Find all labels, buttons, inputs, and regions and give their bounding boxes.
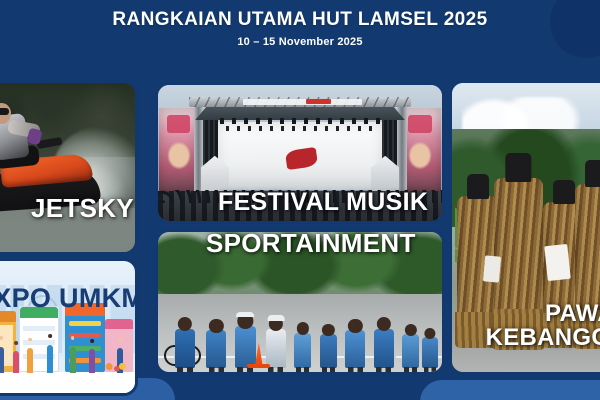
runner-figure xyxy=(235,326,256,368)
card-label-festival-musik: FESTIVAL MUSIK xyxy=(218,188,428,217)
banner-portrait xyxy=(406,142,434,172)
runner-legs xyxy=(348,367,363,372)
shopper-figure xyxy=(13,351,19,373)
sponsor-banner xyxy=(243,99,362,106)
runner-figure xyxy=(294,333,311,368)
expo-umkm-illustration xyxy=(0,261,135,393)
poster-header: RANGKAIAN UTAMA HUT LAMSEL 2025 10 – 15 … xyxy=(0,10,600,48)
event-card-grid: JETSKY xyxy=(0,78,600,400)
runner-legs xyxy=(376,367,391,372)
runner-legs xyxy=(404,367,417,372)
white-banner xyxy=(544,244,570,281)
stall-shelf xyxy=(23,326,55,331)
runner-head xyxy=(322,324,334,336)
event-card-sportainment[interactable]: SPORTAINMENT xyxy=(155,229,445,375)
card-label-sportainment: SPORTAINMENT xyxy=(206,229,416,259)
figure-head xyxy=(15,341,19,345)
card-label-jetsky: JETSKY xyxy=(31,193,134,224)
stall-awning xyxy=(105,319,134,329)
runner-figure xyxy=(374,329,394,368)
runner-head xyxy=(209,319,223,333)
shopper-figure xyxy=(27,348,33,373)
sponsor-logo-mark xyxy=(306,99,332,104)
runner-legs xyxy=(268,367,283,372)
performer-hat xyxy=(585,160,600,187)
market-stall xyxy=(19,306,59,372)
costume-performer xyxy=(494,178,543,334)
figure-head xyxy=(48,334,52,338)
event-card-jetsky[interactable]: JETSKY xyxy=(0,80,138,255)
runner-figure xyxy=(175,329,195,368)
ground xyxy=(0,372,135,393)
figure-head xyxy=(28,338,32,342)
event-date-range: 10 – 15 November 2025 xyxy=(0,36,600,48)
rider-sunglasses xyxy=(0,108,9,115)
runner-head xyxy=(424,328,435,339)
runner-figure xyxy=(422,337,438,368)
shopper-figure xyxy=(70,347,76,373)
figure-head xyxy=(91,339,95,343)
event-card-festival-musik[interactable]: FESTIVAL MUSIK xyxy=(155,82,445,224)
runner-legs xyxy=(424,367,436,372)
runner-head xyxy=(377,317,391,331)
side-banner-right xyxy=(401,108,441,192)
runner-figure xyxy=(320,334,337,368)
runner-legs xyxy=(209,367,224,372)
runner-figure xyxy=(345,330,365,368)
stall-rack xyxy=(69,321,101,326)
jetski-photo xyxy=(0,83,135,252)
runner-legs xyxy=(322,367,335,372)
figure-head xyxy=(71,336,75,340)
page-title: RANGKAIAN UTAMA HUT LAMSEL 2025 xyxy=(0,10,600,31)
runner-cap xyxy=(236,312,254,318)
banner-graphic xyxy=(408,115,432,134)
shopper-figure xyxy=(47,345,53,373)
runner-legs xyxy=(296,367,309,372)
event-card-expo-umkm[interactable]: EXPO UMKM xyxy=(0,258,138,396)
event-card-pawai-kebanggaan[interactable]: PAWAI KEBANGGA xyxy=(449,80,600,375)
shopper-figure xyxy=(89,349,95,373)
runner-figure xyxy=(266,329,286,368)
banner-graphic xyxy=(167,115,191,134)
runner-head xyxy=(405,324,417,336)
performer-hat xyxy=(553,180,575,204)
card-label-pawai-line2: KEBANGGA xyxy=(486,324,600,352)
card-label-expo-umkm: EXPO UMKM xyxy=(0,283,138,314)
white-banner xyxy=(483,256,501,283)
figure-head xyxy=(118,338,122,342)
runner-head xyxy=(178,317,192,331)
runner-figure xyxy=(402,334,419,368)
runner-cap xyxy=(268,315,285,320)
runner-head xyxy=(297,322,309,334)
runner-head xyxy=(348,319,362,333)
runner-figure xyxy=(206,330,226,368)
figure-head xyxy=(0,336,3,340)
produce-display xyxy=(102,361,126,374)
banner-portrait xyxy=(165,142,193,172)
performer-hat xyxy=(467,174,489,199)
runner-legs xyxy=(177,367,192,372)
performer-hat xyxy=(506,153,531,181)
stage-light-row xyxy=(226,126,374,131)
stage-light-row xyxy=(220,118,379,125)
shopper-figure xyxy=(0,347,4,373)
